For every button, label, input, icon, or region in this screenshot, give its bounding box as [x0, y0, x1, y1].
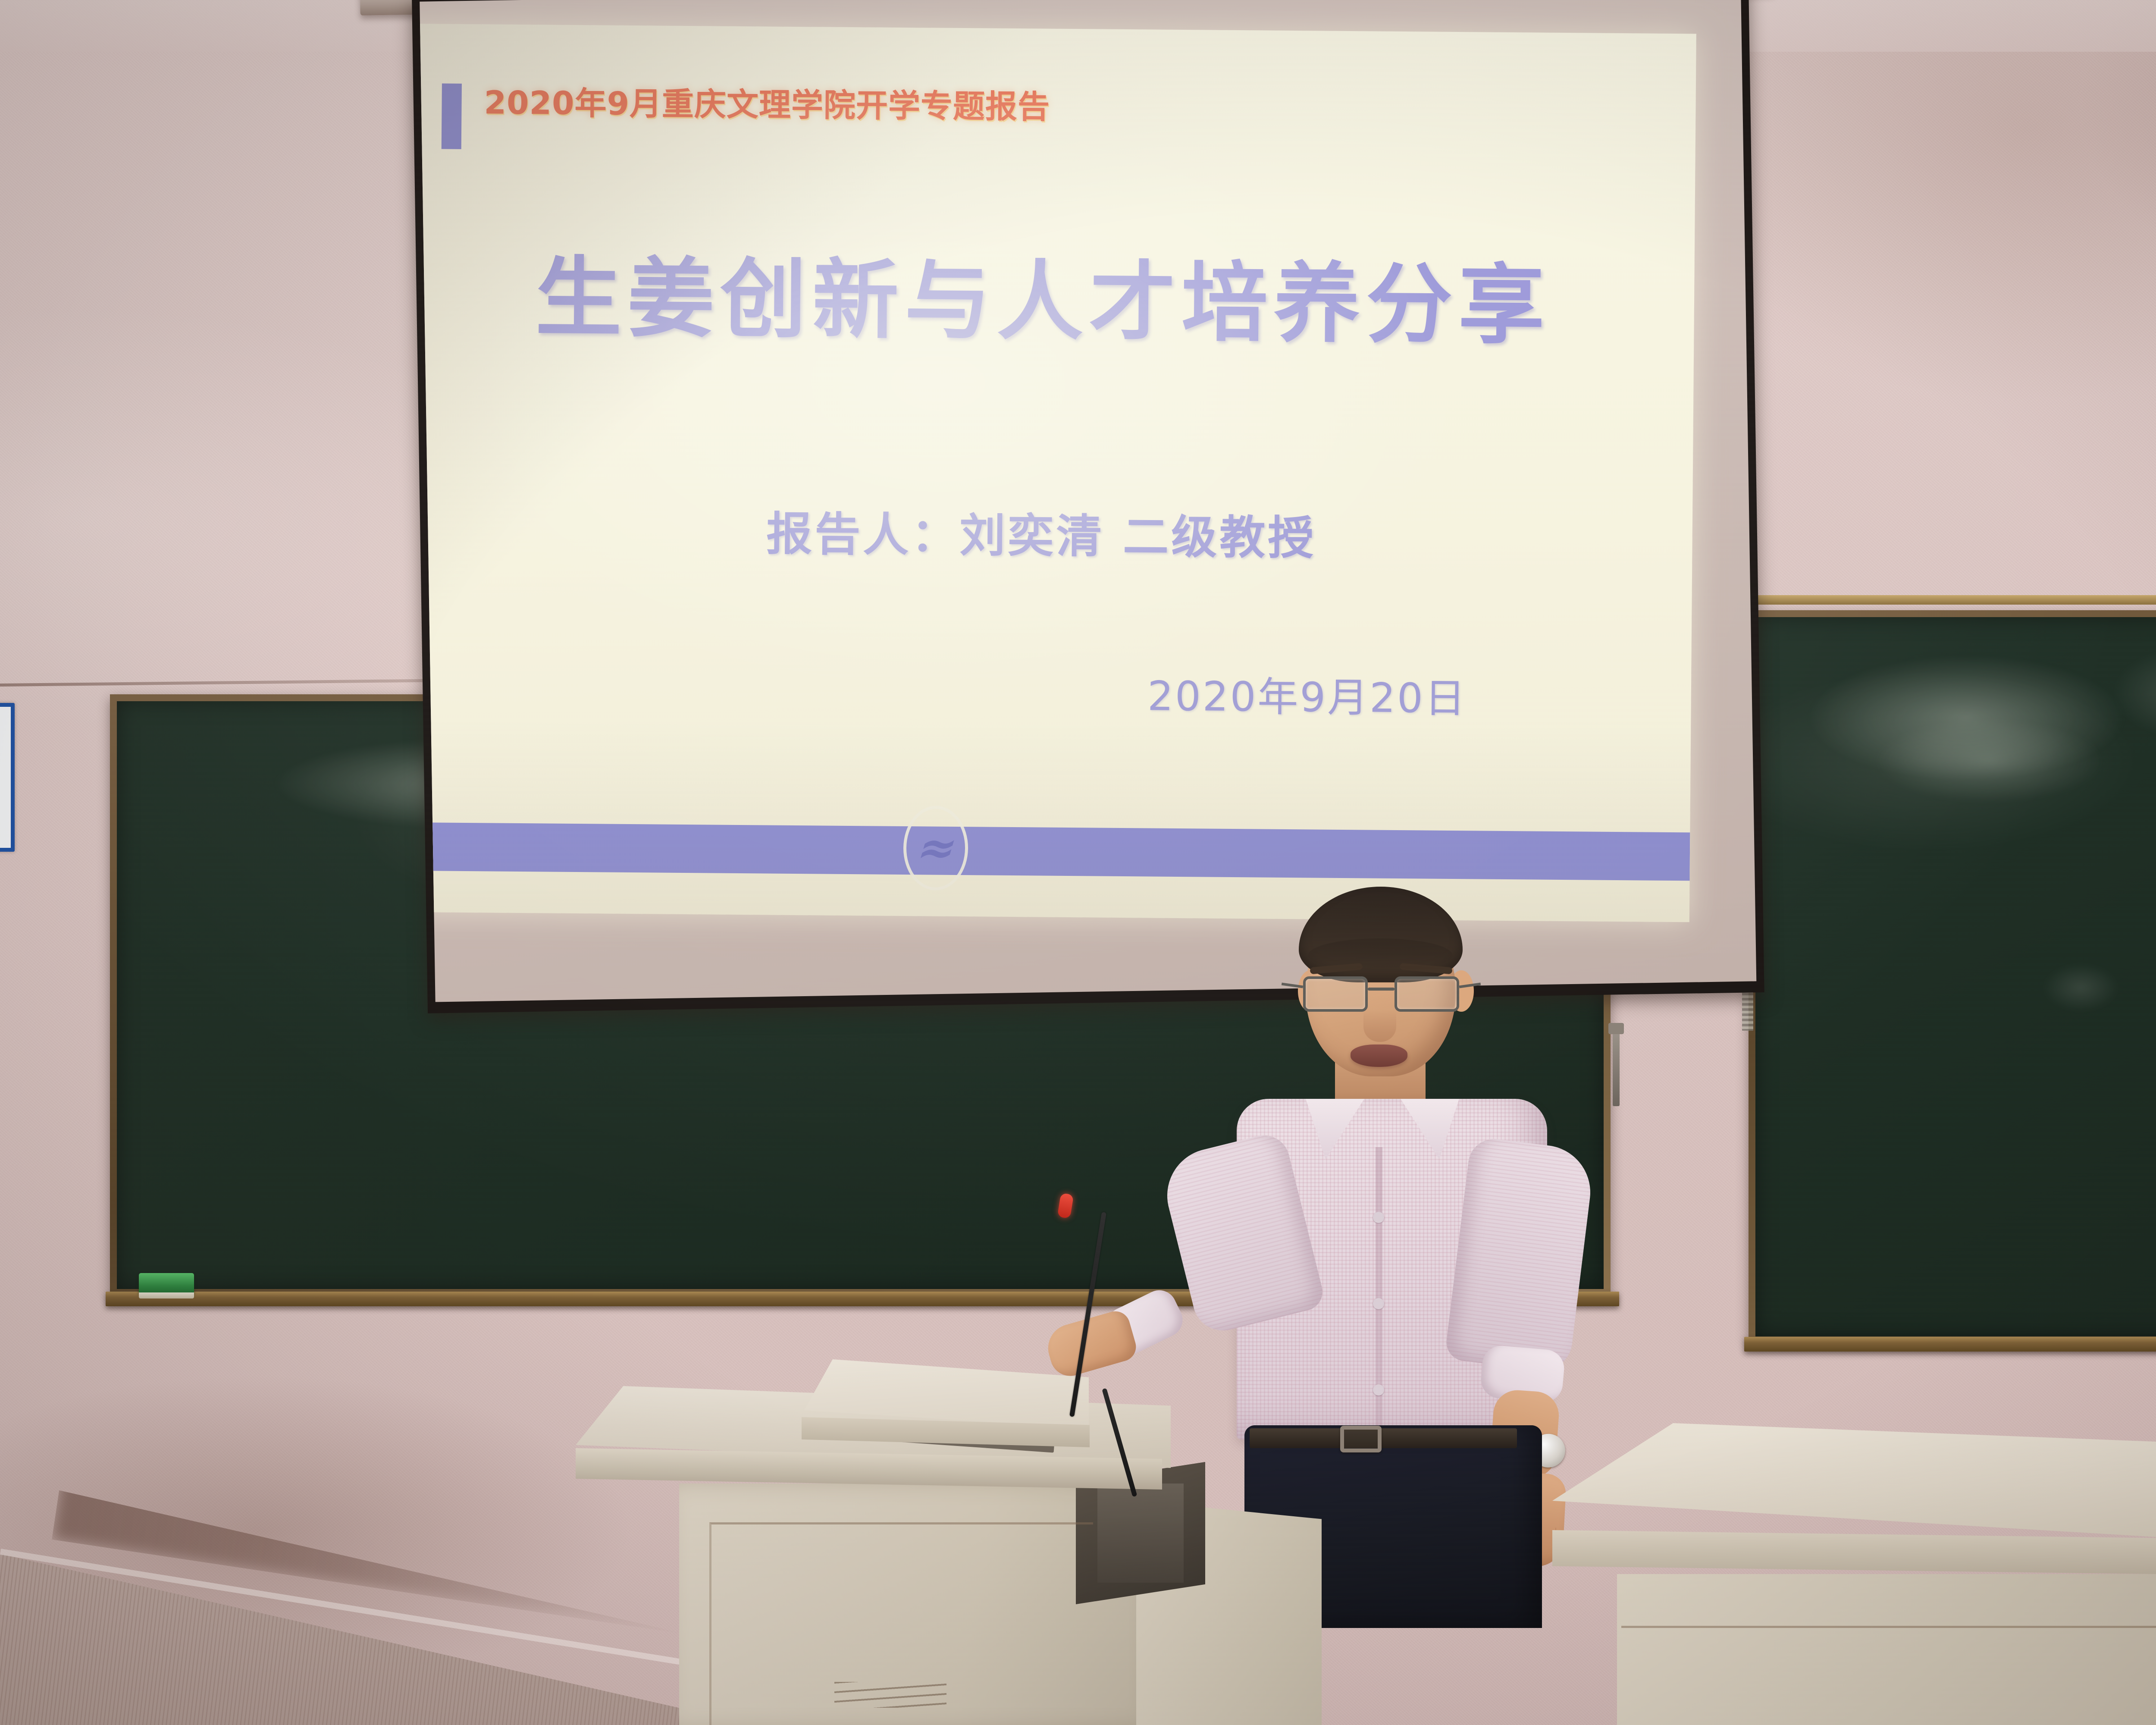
belt-buckle-icon — [1340, 1426, 1382, 1452]
lens-right — [1395, 976, 1459, 1012]
lens-left — [1303, 976, 1368, 1012]
slide-bottom-band — [420, 822, 1690, 881]
slide-presenter-text: 报告人：刘奕清 二级教授 — [420, 494, 1692, 571]
blackboard-right — [1749, 610, 2156, 1343]
blackboard-ledge-right — [1744, 1337, 2156, 1352]
chalk-smudge — [1801, 653, 2132, 782]
shirt-button — [1373, 1384, 1384, 1396]
nose — [1363, 1010, 1396, 1042]
shirt-button — [1373, 1298, 1384, 1309]
slide-kicker-text: 2020年9月重庆文理学院开学专题报告 — [484, 77, 1050, 127]
eyeglasses-icon — [1301, 976, 1461, 1013]
chalk-eraser[interactable] — [139, 1273, 194, 1294]
wall-notice-frame[interactable] — [0, 703, 15, 852]
shirt-button — [1373, 1212, 1384, 1223]
slide-title-text: 生姜创新与人才培养分享 — [420, 226, 1695, 362]
projector-glow — [420, 24, 1696, 922]
lectern-podium — [576, 1341, 1317, 1725]
equipment-table — [1552, 1423, 2156, 1725]
podium-cavity-interior — [1097, 1483, 1184, 1583]
glasses-bridge — [1368, 988, 1395, 991]
blackboard-top-rail — [1751, 595, 2156, 605]
screen-black-border: 2020年9月重庆文理学院开学专题报告 生姜创新与人才培养分享 报告人：刘奕清 … — [412, 0, 1764, 1013]
logo-mark-glyph: ≈ — [914, 831, 958, 866]
projected-slide: 2020年9月重庆文理学院开学专题报告 生姜创新与人才培养分享 报告人：刘奕清 … — [420, 24, 1696, 922]
podium-vent-slots — [834, 1682, 946, 1708]
university-logo-icon: ≈ — [903, 806, 968, 891]
mouth — [1351, 1044, 1407, 1067]
projection-screen: 2020年9月重庆文理学院开学专题报告 生姜创新与人才培养分享 报告人：刘奕清 … — [412, 0, 1764, 1013]
projector-vignette — [420, 24, 1696, 922]
arm-right — [1444, 1136, 1595, 1374]
chalk-smudge — [2109, 646, 2156, 740]
table-front-edge — [1552, 1530, 2156, 1578]
lecture-hall-photo: 安全出口 2020年9月重庆文理学院开学专题报告 生姜创新与人才培养分享 报告人… — [0, 0, 2156, 1725]
screen-surface: 2020年9月重庆文理学院开学专题报告 生姜创新与人才培养分享 报告人：刘奕清 … — [420, 0, 1756, 1002]
slide-date-text: 2020年9月20日 — [1147, 663, 1467, 724]
table-drawer-panel[interactable] — [1621, 1626, 2156, 1725]
chalk-smudge — [1870, 718, 2109, 804]
slide-accent-bar — [442, 84, 462, 149]
chalk-smudge — [2041, 963, 2121, 1013]
